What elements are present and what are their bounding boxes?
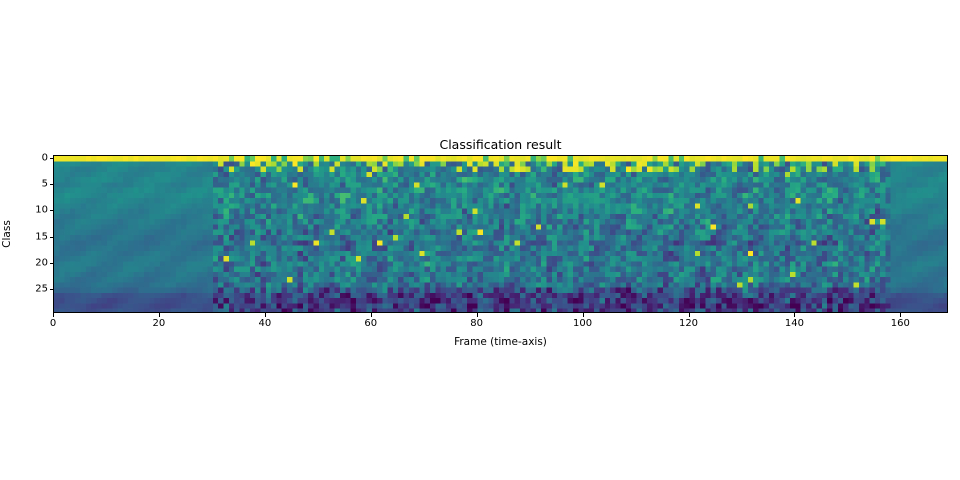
x-tick-label: 160 (891, 318, 910, 329)
x-tick-label: 80 (470, 318, 483, 329)
y-tick-mark (50, 263, 54, 264)
x-tick-label: 100 (573, 318, 592, 329)
x-tick-label: 0 (50, 318, 56, 329)
x-axis-label: Frame (time-axis) (53, 336, 948, 348)
y-tick-label: 20 (35, 257, 48, 268)
y-tick-label: 10 (35, 205, 48, 216)
y-axis-label: Class (0, 155, 14, 313)
y-tick-mark (50, 237, 54, 238)
y-tick-label: 5 (42, 178, 48, 189)
x-tick-mark (159, 313, 160, 317)
x-tick-mark (53, 313, 54, 317)
x-tick-mark (371, 313, 372, 317)
y-tick-mark (50, 158, 54, 159)
y-tick-label: 15 (35, 231, 48, 242)
y-tick-mark (50, 210, 54, 211)
heatmap-axes (53, 155, 948, 313)
heatmap-image (54, 156, 948, 313)
y-tick-mark (50, 184, 54, 185)
x-tick-label: 140 (785, 318, 804, 329)
x-tick-mark (265, 313, 266, 317)
x-tick-mark (583, 313, 584, 317)
x-tick-mark (477, 313, 478, 317)
x-tick-label: 120 (679, 318, 698, 329)
x-tick-mark (689, 313, 690, 317)
y-tick-label: 25 (35, 284, 48, 295)
page-title: Classification result (53, 137, 948, 153)
x-tick-label: 40 (258, 318, 271, 329)
x-tick-label: 60 (364, 318, 377, 329)
y-tick-label: 0 (42, 152, 48, 163)
y-tick-mark (50, 289, 54, 290)
x-tick-label: 20 (153, 318, 166, 329)
matplotlib-figure: Classification result 020406080100120140… (0, 0, 960, 480)
x-tick-mark (794, 313, 795, 317)
x-tick-mark (900, 313, 901, 317)
